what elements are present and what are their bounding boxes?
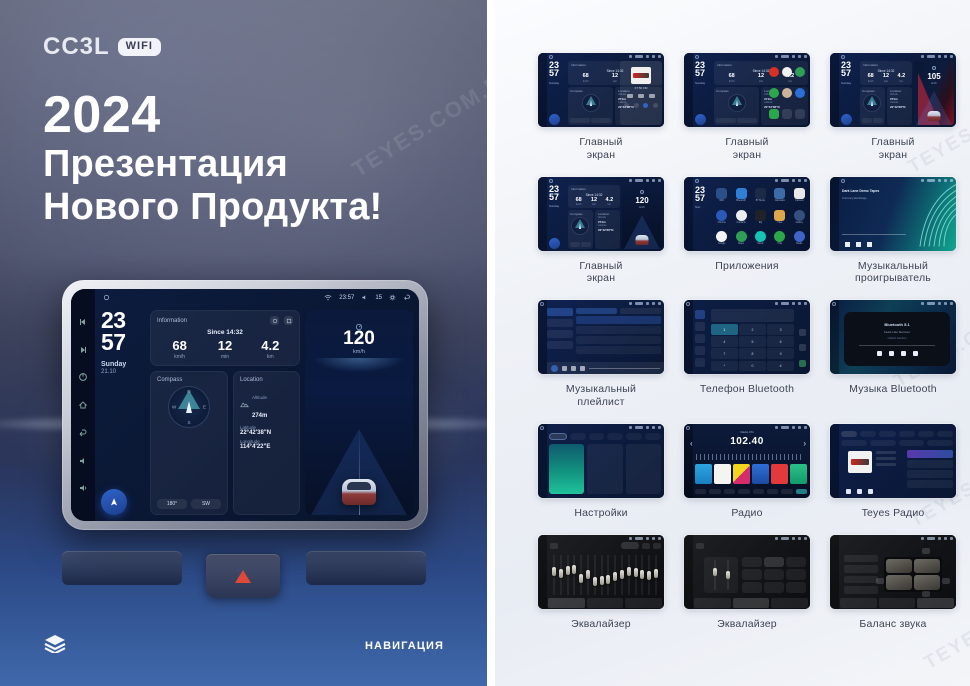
- prev-track-button[interactable]: [78, 317, 88, 327]
- thumbnail-home-media[interactable]: 23 57Sunday InformationSince 14:32 68km/…: [538, 53, 664, 127]
- phone-nav-sidebar[interactable]: [693, 308, 707, 372]
- media-widget: 07:50 FM: [620, 61, 662, 125]
- eq-band: [599, 555, 605, 595]
- next-track-button[interactable]: [78, 345, 88, 355]
- widgets-column: Information Since 14:32: [150, 310, 300, 515]
- trip-stat: 4.2 km: [248, 339, 293, 360]
- app-tile-camera: Camera: [791, 186, 808, 205]
- radio-toolbar[interactable]: [695, 488, 807, 496]
- fader-treble: [725, 560, 730, 590]
- trip-distance-unit: km: [248, 354, 293, 360]
- mini-button-rail: [538, 177, 547, 251]
- playback-controls[interactable]: [877, 351, 918, 356]
- app-tile-equalizer: EQ: [752, 207, 769, 226]
- presentation-slide: TEYES.COM.RU TEYES.COM.RU TEYES.COM.RU C…: [0, 0, 970, 686]
- gallery-item[interactable]: Эквалайзер: [679, 535, 815, 646]
- preset-1: [695, 464, 712, 484]
- next-station-button[interactable]: ›: [803, 439, 806, 448]
- preset-bass: [786, 569, 806, 580]
- more-card: [626, 444, 661, 494]
- tab-apps: [607, 433, 623, 440]
- frequency-scale[interactable]: [696, 454, 804, 460]
- tab-sound: [570, 433, 586, 440]
- eq-band: [578, 555, 584, 595]
- preset-custom: [764, 582, 784, 593]
- app-tile-wifi: WiFi: [713, 186, 730, 205]
- mini-clock: 23 57: [695, 61, 712, 78]
- dialer-actions[interactable]: [796, 324, 808, 371]
- key-0[interactable]: 0: [739, 361, 766, 372]
- mini-button-rail: [830, 535, 839, 609]
- app-tile-radio: Radio: [791, 228, 808, 247]
- gallery-item[interactable]: 23 57Sunday InformationSince 14:32 68km/…: [533, 177, 669, 301]
- preset-4: [752, 464, 769, 484]
- mini-status-bar: [538, 300, 664, 307]
- power-button[interactable]: [78, 372, 88, 382]
- equalizer-tabs[interactable]: [840, 598, 954, 608]
- band-button: [695, 489, 706, 494]
- compass-direction-value: SW: [191, 499, 221, 509]
- now-playing-artist: Currency Exchange: [842, 196, 904, 200]
- product-logo: CC3L WIFI: [43, 33, 161, 61]
- longitude-value: 114°4'22"E: [240, 444, 293, 450]
- volume-icon[interactable]: [361, 294, 368, 301]
- thumbnail-equalizer-bands[interactable]: [538, 535, 664, 609]
- key-3[interactable]: 3: [767, 324, 794, 335]
- teyes-radio-tabs[interactable]: [841, 431, 953, 437]
- prev-icon: [562, 366, 567, 371]
- hazard-triangle-icon: [235, 570, 251, 583]
- speed-unit: km/h: [305, 349, 413, 355]
- key-9[interactable]: 9: [767, 348, 794, 359]
- seat-map[interactable]: [884, 557, 942, 592]
- app-tile-contacts: Contacts: [732, 207, 749, 226]
- home-button[interactable]: [78, 400, 88, 410]
- key-hash[interactable]: #: [767, 361, 794, 372]
- wifi-icon: [324, 294, 332, 301]
- home-screen-body: 23 57 Sunday 21.10: [95, 306, 419, 521]
- equalizer-header: [696, 542, 726, 550]
- playback-controls[interactable]: [846, 489, 873, 494]
- title-year: 2024: [43, 88, 463, 143]
- app-tile-gallery: Gallery: [791, 207, 808, 226]
- logo-wifi-badge: WIFI: [118, 38, 161, 55]
- key-star[interactable]: *: [711, 361, 738, 372]
- volume-up-button[interactable]: [78, 483, 88, 493]
- list-item: [576, 316, 661, 324]
- play-pause-icon: [889, 351, 894, 356]
- tab-balance: [625, 598, 662, 608]
- gallery-item[interactable]: Настройки: [533, 424, 669, 535]
- mini-button-rail: [684, 535, 693, 609]
- now-playing-track: Dark Lane Demo Tapes: [842, 189, 904, 193]
- back-icon[interactable]: [403, 294, 411, 301]
- progress-bar[interactable]: [842, 234, 906, 235]
- seat-front-left: [886, 559, 912, 574]
- eq-band: [626, 555, 632, 595]
- preset-5: [771, 464, 788, 484]
- thumbnail-bluetooth-music[interactable]: Bluetooth 5.1 Feels Like Summer Childish…: [830, 300, 956, 374]
- preset-2: [714, 464, 731, 484]
- prev-icon: [877, 351, 882, 356]
- speed-gauge-icon: [932, 66, 936, 70]
- app-tile-maps: Maps: [732, 228, 749, 247]
- logo-model-text: CC3L: [43, 33, 110, 61]
- trip-duration-value: 12: [202, 339, 247, 352]
- mini-status-bar: [693, 53, 810, 60]
- thumbnail-music-player[interactable]: Dark Lane Demo Tapes Currency Exchange: [830, 177, 956, 251]
- eq-band: [653, 555, 659, 595]
- page-title: 2024 Презентация Нового Продукта!: [43, 88, 463, 229]
- balance-down-button[interactable]: [922, 591, 930, 597]
- preset-grid[interactable]: [742, 557, 806, 593]
- station-list[interactable]: [907, 450, 953, 494]
- pause-icon: [571, 366, 576, 371]
- thumbnail-home-road-red[interactable]: 23 57Sunday InformationSince 14:32 68km/…: [830, 53, 956, 127]
- eq-band: [558, 555, 564, 595]
- app-tile-google: Google: [713, 228, 730, 247]
- gallery-item[interactable]: 23 57Sunday InformationSince 14:32 68km/…: [825, 53, 961, 177]
- eq-band: [571, 555, 577, 595]
- app-icon-mail: [795, 88, 805, 98]
- phone-number-input[interactable]: [711, 309, 794, 322]
- mini-clock: 23 57: [841, 61, 858, 78]
- fader-controls[interactable]: [704, 557, 738, 593]
- thumbnail-equalizer-presets[interactable]: [684, 535, 810, 609]
- thumbnail-home-apps[interactable]: 23 57Sunday InformationSince 14:32 68km/…: [684, 53, 810, 127]
- list-item: [576, 336, 661, 344]
- reset-icon: [653, 543, 661, 549]
- gallery-item-label: Эквалайзер: [533, 618, 669, 631]
- trip-duration-unit: min: [202, 354, 247, 360]
- equalizer-tabs[interactable]: [548, 598, 662, 608]
- driving-view-widget: 120 km/h: [622, 185, 662, 249]
- preset-3: [733, 464, 750, 484]
- seat-front-right: [914, 559, 940, 574]
- tab-balance: [917, 598, 954, 608]
- tab-eq: [840, 598, 877, 608]
- trip-stats: 68 km/h 12 min 4.2: [157, 339, 293, 360]
- gallery-item-label: Баланс звука: [825, 618, 961, 631]
- gallery-item-label: Музыка Bluetooth: [825, 383, 961, 396]
- call-icon: [799, 360, 806, 367]
- balance-right-button[interactable]: [942, 578, 950, 584]
- volume-down-button[interactable]: [78, 456, 88, 466]
- compass-south-label: S: [187, 420, 190, 425]
- mini-status-bar: [547, 53, 664, 60]
- equalizer-bands[interactable]: [551, 555, 659, 595]
- tab-eq: [694, 598, 731, 608]
- preset-rock: [764, 557, 784, 568]
- preset-all: [844, 586, 878, 594]
- app-icon-settings: [782, 109, 792, 119]
- title-line-1: Презентация: [43, 143, 463, 186]
- album-art: [848, 451, 872, 473]
- trip-distance-value: 4.2: [248, 339, 293, 352]
- wifi-card: [549, 444, 584, 494]
- app-icon-contacts: [782, 88, 792, 98]
- thumbnail-music-playlist[interactable]: [538, 300, 664, 374]
- car-logo-card: [587, 444, 622, 494]
- app-tile-bluetooth: Bluetooth: [732, 186, 749, 205]
- gallery-item[interactable]: 23 57Sunday InformationSince 14:32 68km/…: [679, 53, 815, 177]
- search-icon: [695, 334, 705, 343]
- tab-fader: [879, 598, 916, 608]
- eq-band: [612, 555, 618, 595]
- eq-band: [646, 555, 652, 595]
- preset-icon: [696, 543, 704, 549]
- list-item: [907, 470, 953, 478]
- mountain-icon: [240, 395, 249, 413]
- power-button: [796, 489, 807, 494]
- key-6[interactable]: 6: [767, 336, 794, 347]
- ta-button: [767, 489, 778, 494]
- app-tile-bluetooth-music: BT Music: [752, 186, 769, 205]
- car-3d-model: [636, 235, 649, 245]
- preset-rear: [844, 576, 878, 584]
- pause-icon: [856, 242, 861, 247]
- eq-band: [585, 555, 591, 595]
- gallery-item[interactable]: Эквалайзер: [533, 535, 669, 646]
- thumbnail-home-road-blue[interactable]: 23 57Sunday InformationSince 14:32 68km/…: [538, 177, 664, 251]
- gallery-item-label: Радио: [679, 507, 815, 520]
- status-time: 23:57: [339, 295, 354, 301]
- speed-gauge-icon: [640, 190, 644, 194]
- thumbnail-radio[interactable]: Radio FM ‹ 102.40 ›: [684, 424, 810, 498]
- preset-jazz: [786, 557, 806, 568]
- eq-band: [592, 555, 598, 595]
- balance-presets[interactable]: [844, 555, 878, 594]
- compass-widget[interactable]: Compass N S W E: [150, 371, 228, 515]
- thumbnail-sound-balance[interactable]: [830, 535, 956, 609]
- tab-eq: [548, 598, 585, 608]
- bt-track-title: Feels Like Summer: [884, 330, 910, 334]
- speed-value: 120: [622, 196, 662, 205]
- preset-vocal: [764, 569, 784, 580]
- gallery-item[interactable]: 23 57 Sun WiFi Bluetooth BT Music Calcul…: [679, 177, 815, 301]
- air-vent-right: [306, 551, 426, 585]
- mini-status-bar: [694, 535, 810, 542]
- mini-status-bar: [830, 300, 956, 307]
- key-2[interactable]: 2: [739, 324, 766, 335]
- preset-6: [790, 464, 807, 484]
- next-icon: [867, 242, 872, 247]
- hero-panel: TEYES.COM.RU TEYES.COM.RU TEYES.COM.RU C…: [0, 0, 487, 686]
- save-icon: [642, 543, 650, 549]
- station-presets[interactable]: [695, 464, 807, 484]
- car-3d-model: [928, 111, 941, 121]
- gallery-item-label: Teyes Радио: [825, 507, 961, 520]
- app-icon-play-store: [769, 109, 779, 119]
- list-button: [724, 489, 735, 494]
- gallery-item-label: Музыкальный плейлист: [533, 383, 669, 409]
- radio-frequency: 102.40: [684, 436, 810, 447]
- app-tile-calculator: Calculator: [771, 186, 788, 205]
- gallery-item[interactable]: Баланс звука: [825, 535, 961, 646]
- backspace-icon: [799, 344, 806, 351]
- prev-icon: [845, 242, 850, 247]
- stop-icon: [901, 351, 906, 356]
- layers-icon[interactable]: [43, 633, 67, 658]
- app-shortcuts-column: [766, 61, 808, 125]
- tab-wlan: [549, 433, 567, 440]
- gallery-item-label: Главный экран: [825, 136, 961, 162]
- bluetooth-player-panel: Bluetooth 5.1 Feels Like Summer Childish…: [844, 312, 950, 366]
- back-button[interactable]: [78, 428, 88, 438]
- call-log-icon: [695, 346, 705, 355]
- driving-view-widget: 105 km/h: [914, 61, 954, 125]
- gear-icon[interactable]: [389, 294, 396, 301]
- gallery-item[interactable]: Dark Lane Demo Tapes Currency Exchange: [825, 177, 961, 301]
- list-item: [907, 450, 953, 458]
- mini-status-bar: [840, 535, 956, 542]
- preset-selector[interactable]: [621, 542, 639, 549]
- thumbnail-settings[interactable]: [538, 424, 664, 498]
- rds-button: [753, 489, 764, 494]
- playback-controls[interactable]: [845, 242, 872, 247]
- mini-button-rail: [538, 535, 547, 609]
- eq-band: [565, 555, 571, 595]
- settings-tabs[interactable]: [549, 433, 661, 440]
- gallery-item-label: Эквалайзер: [679, 618, 815, 631]
- compass-north-label: N: [187, 389, 190, 394]
- gallery-item[interactable]: Музыкальный плейлист: [533, 300, 669, 424]
- expand-icon[interactable]: [284, 316, 293, 325]
- playlist-sidebar[interactable]: [547, 308, 573, 362]
- album-art: [631, 67, 651, 84]
- navigation-shortcut-button[interactable]: [101, 489, 127, 515]
- preset-icon: [550, 543, 558, 549]
- gallery-item[interactable]: Teyes Радио: [825, 424, 961, 535]
- audio-visualizer: [908, 177, 956, 251]
- tab-general: [626, 433, 642, 440]
- app-tile-play-store: Play: [771, 228, 788, 247]
- clock-weekday: Sunday: [101, 361, 145, 368]
- mini-status-bar: [538, 424, 664, 431]
- settings-icon: [695, 358, 705, 367]
- prev-icon: [627, 94, 633, 98]
- status-bar: 23:57 15: [95, 289, 419, 306]
- mini-button-rail: [830, 424, 839, 498]
- prev-icon: [846, 489, 851, 494]
- gallery-item-label: Главный экран: [533, 136, 669, 162]
- dialpad[interactable]: 1 2 3 4 5 6 7 8 9 * 0 #: [711, 324, 794, 371]
- play-icon: [638, 94, 644, 98]
- tab-balance: [771, 598, 808, 608]
- key-4[interactable]: 4: [711, 336, 738, 347]
- altitude-value: 274m: [252, 413, 267, 419]
- gallery-item[interactable]: 1 2 3 4 5 6 7 8 9 * 0 #: [679, 300, 815, 424]
- mini-clock: 23 57: [549, 185, 566, 202]
- hazard-light-button[interactable]: [206, 554, 280, 598]
- app-icon-youtube: [769, 67, 779, 77]
- gallery-item-label: Приложения: [679, 260, 815, 273]
- favorite-icon: [799, 329, 806, 336]
- equalizer-tabs[interactable]: [694, 598, 808, 608]
- information-widget-title: Information: [157, 318, 187, 324]
- list-item: [576, 326, 661, 334]
- app-grid: WiFi Bluetooth BT Music Calculator Camer…: [713, 186, 808, 248]
- eq-band: [619, 555, 625, 595]
- progress-bar: [589, 368, 660, 369]
- equalizer-header[interactable]: [550, 542, 661, 550]
- clock-minutes: 57: [101, 332, 145, 354]
- bluetooth-version: Bluetooth 5.1: [884, 322, 909, 327]
- next-icon: [580, 366, 585, 371]
- preset-pop: [742, 557, 762, 568]
- balance-left-button[interactable]: [876, 578, 884, 584]
- mini-status-bar: [547, 177, 664, 184]
- horizon-glow: [305, 358, 413, 378]
- key-5[interactable]: 5: [739, 336, 766, 347]
- location-widget-title: Location: [240, 377, 293, 383]
- information-widget[interactable]: Information Since 14:32: [150, 310, 300, 366]
- key-7[interactable]: 7: [711, 348, 738, 359]
- thumbnail-teyes-radio[interactable]: [830, 424, 956, 498]
- fader-bass: [712, 560, 717, 590]
- mini-status-bar: [548, 535, 664, 542]
- driving-view-widget[interactable]: 120 km/h: [305, 310, 413, 515]
- title-line-2: Нового Продукта!: [43, 186, 463, 229]
- compass-needle-icon: [186, 401, 192, 413]
- mini-button-rail: [684, 177, 693, 251]
- app-icon-chrome: [782, 67, 792, 77]
- playlist-player-bar[interactable]: [547, 362, 664, 374]
- gallery-item[interactable]: 23 57Sunday InformationSince 14:32 68km/…: [533, 53, 669, 177]
- next-icon: [868, 489, 873, 494]
- clock-widget: 23 57 Sunday 21.10: [101, 310, 145, 515]
- gallery-item[interactable]: Bluetooth 5.1 Feels Like Summer Childish…: [825, 300, 961, 424]
- eq-band: [606, 555, 612, 595]
- location-widget[interactable]: Location Altitude 274m: [233, 371, 300, 515]
- speed-value: 105: [914, 72, 954, 81]
- key-8[interactable]: 8: [739, 348, 766, 359]
- status-volume-level: 15: [375, 295, 382, 301]
- progress-bar[interactable]: [859, 345, 935, 346]
- trip-stat: 12 min: [202, 339, 247, 360]
- tab-system: [645, 433, 661, 440]
- mini-status-bar: [839, 53, 956, 60]
- teyes-radio-filters[interactable]: [841, 440, 953, 446]
- list-item: [907, 480, 953, 488]
- trip-since-label: Since 14:32: [157, 329, 293, 336]
- refresh-icon[interactable]: [270, 316, 279, 325]
- head-unit-ui: 23:57 15 23 57 Sunday 21.10: [95, 289, 419, 521]
- mini-button-rail: [830, 177, 839, 251]
- settings-button: [781, 489, 792, 494]
- list-item: [576, 346, 661, 354]
- gallery-item[interactable]: Radio FM ‹ 102.40 ›: [679, 424, 815, 535]
- gallery-item-label: Главный экран: [533, 260, 669, 286]
- key-1[interactable]: 1: [711, 324, 738, 335]
- thumbnail-bluetooth-dialer[interactable]: 1 2 3 4 5 6 7 8 9 * 0 #: [684, 300, 810, 374]
- app-tile-chrome: Chrome: [713, 207, 730, 226]
- home-icon[interactable]: [103, 294, 110, 301]
- preset-front: [844, 565, 878, 573]
- playlist-track-list[interactable]: [576, 308, 661, 361]
- air-vent-left: [62, 551, 182, 585]
- preset-dance: [786, 582, 806, 593]
- latitude-value: 22°42'38"N: [240, 430, 293, 436]
- hardware-button-rail: [71, 289, 95, 521]
- settings-cards[interactable]: [549, 444, 661, 494]
- tab-fader: [733, 598, 770, 608]
- app-icon-maps: [795, 67, 805, 77]
- thumbnail-app-drawer[interactable]: 23 57 Sun WiFi Bluetooth BT Music Calcul…: [684, 177, 810, 251]
- gallery-item-label: Музыкальный проигрыватель: [825, 260, 961, 286]
- balance-up-button[interactable]: [922, 548, 930, 554]
- gallery-item-label: Главный экран: [679, 136, 815, 162]
